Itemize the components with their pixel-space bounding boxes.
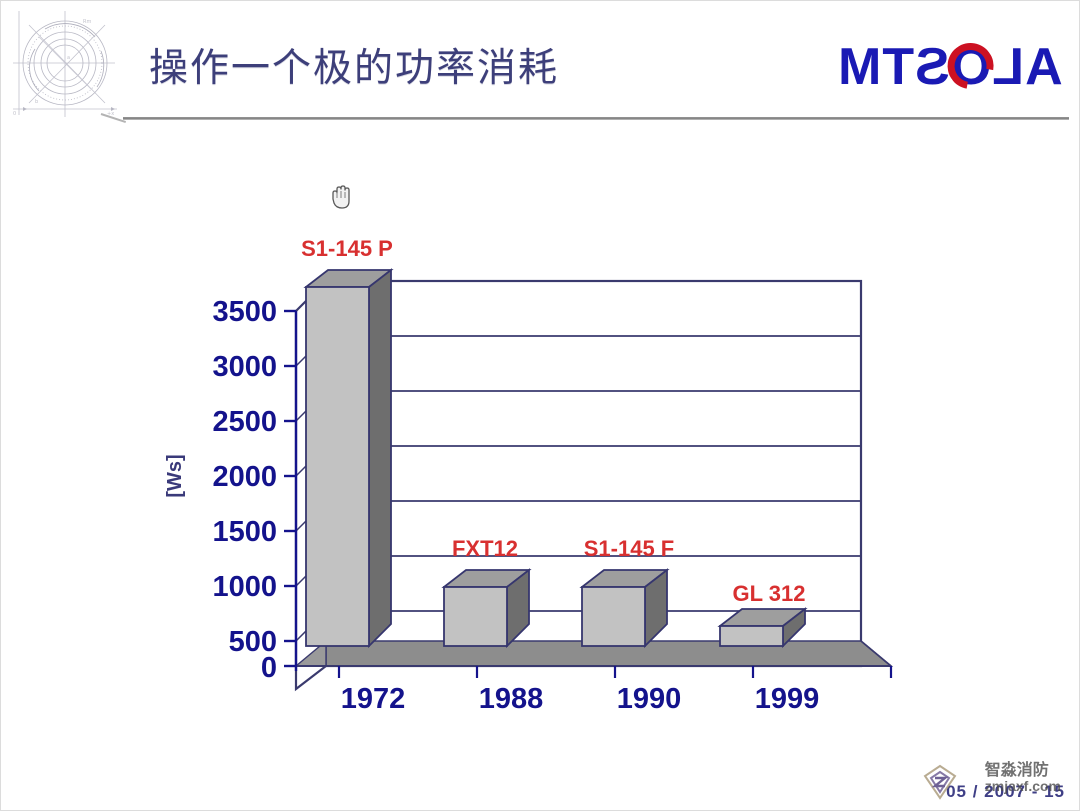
data-label: FXT12 [452,536,518,561]
x-tick-label: 1990 [617,683,682,715]
x-tick-label: 1988 [479,683,544,715]
hand-grab-cursor [329,181,355,211]
y-tick-label: 3000 [212,351,277,383]
svg-text:b: b [35,99,38,105]
svg-text:a: a [67,55,70,61]
x-tick-label: 1972 [341,683,406,715]
watermark-logo-icon [923,764,957,800]
chart-x-tick-labels: 1972 1988 1990 1999 [341,683,820,715]
y-tick-label: 2500 [212,406,277,438]
slide-header: Rm a b +x 0 操作一个极的功率消耗 ALOSTM [1,1,1080,129]
svg-text:0: 0 [13,111,16,117]
chart-y-axis [284,311,296,671]
logo-o-ring-wrap: O [950,41,991,93]
y-tick-label: 3500 [212,296,277,328]
chart-y-tick-labels: 3500 3000 2500 2000 1500 1000 500 0 [212,296,277,684]
chart-svg: 3500 3000 2500 2000 1500 1000 500 0 [Ws] [151,226,911,716]
bar-1972[interactable] [306,270,391,646]
data-label: GL 312 [733,581,806,606]
page-title: 操作一个极的功率消耗 [149,37,559,93]
logo-text-m: M [837,38,881,96]
x-tick-label: 1999 [755,683,820,715]
bar-1990[interactable] [582,570,667,646]
slide-footer-page: 05 / 2007 - 15 [946,782,1065,802]
logo-text-st: ST [882,38,950,96]
alstom-logo: ALOSTM [837,41,1063,93]
data-label: S1-145 P [301,236,393,261]
power-consumption-chart: 3500 3000 2500 2000 1500 1000 500 0 [Ws] [151,226,911,716]
chart-x-axis-ticks [339,666,891,678]
technical-drawing-icon: Rm a b +x 0 [9,7,121,121]
y-axis-title: [Ws] [164,454,186,497]
watermark-cn-text: 智淼消防 [985,763,1061,780]
y-tick-label: 2000 [212,461,277,493]
data-label: S1-145 F [584,536,675,561]
svg-text:Rm: Rm [83,19,91,25]
y-tick-label: 1000 [212,571,277,603]
slide-canvas: Rm a b +x 0 操作一个极的功率消耗 ALOSTM [0,0,1080,811]
y-tick-label: 0 [261,652,277,684]
bar-1988[interactable] [444,570,529,646]
header-divider [123,117,1069,120]
y-tick-label: 1500 [212,516,277,548]
logo-text-al: AL [992,38,1063,96]
